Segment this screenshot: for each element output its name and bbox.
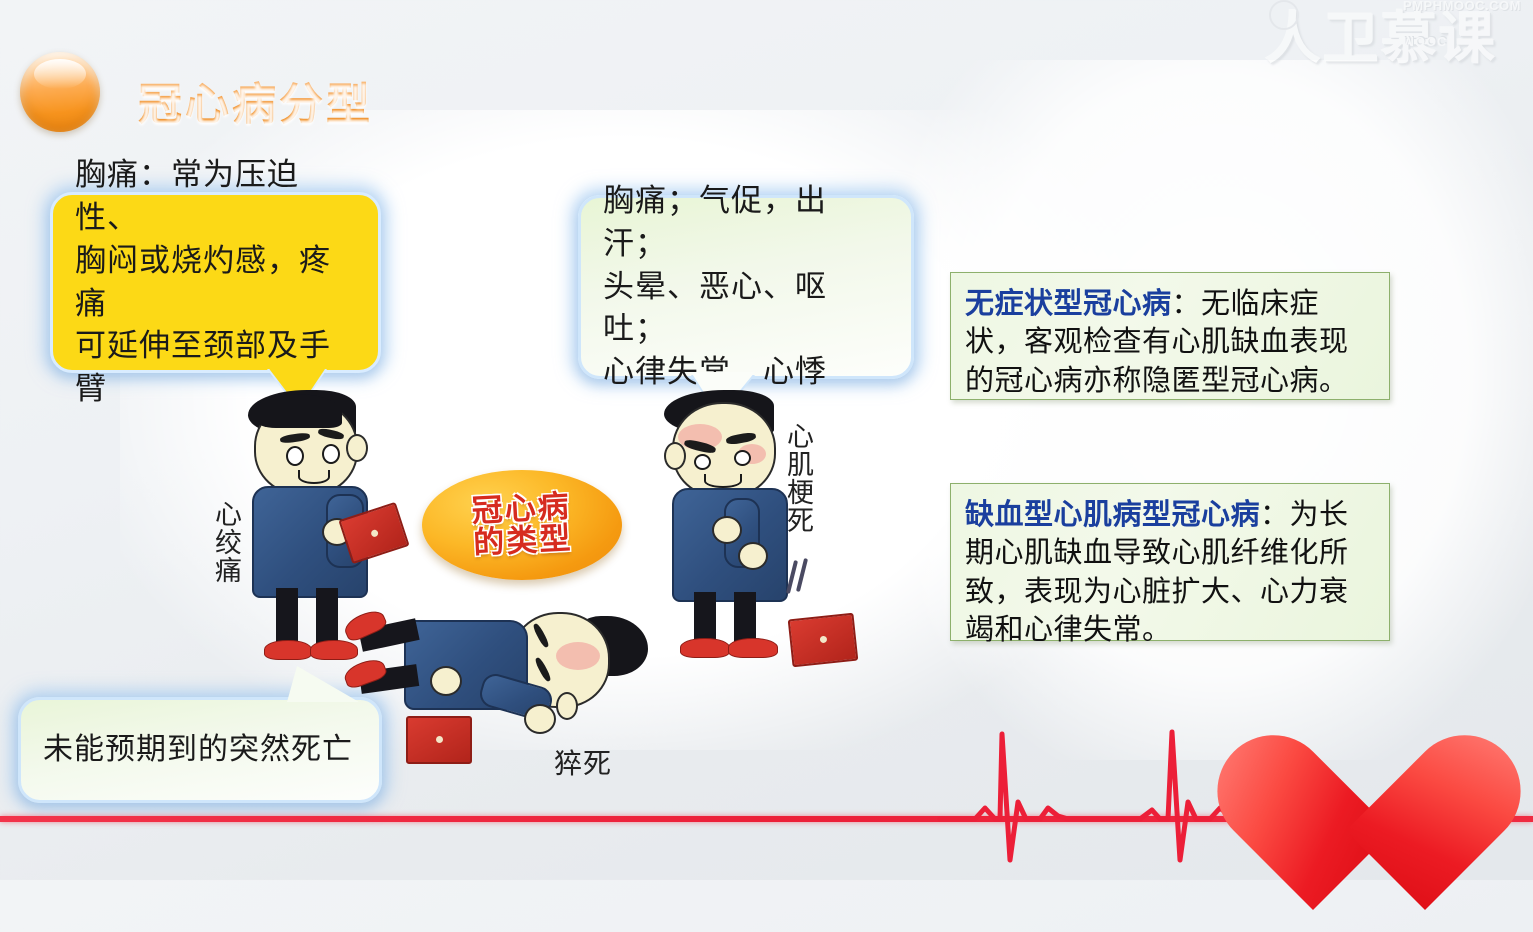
slide-canvas: 人卫慕课 PMPHMOOC.COM MOOC 冠心病分型 胸痛：常为压迫性、 胸… (0, 0, 1533, 880)
bubble-line: 头晕、恶心、呕吐； (603, 266, 889, 352)
infobox-term: 无症状型冠心病 (965, 288, 1172, 320)
page-title: 冠心病分型 (138, 68, 373, 132)
figure-myocardial-infarction (650, 390, 840, 660)
speech-bubble-mi-text: 胸痛；气促，出汗； 头晕、恶心、呕吐； 心律失常、心悸 (581, 198, 911, 376)
shoe (264, 640, 312, 660)
infobox-ischemic-cardiomyopathy: 缺血型心肌病型冠心病：为长期心肌缺血导致心肌纤维化所致，表现为心脏扩大、心力衰竭… (950, 483, 1390, 641)
eye (322, 444, 340, 464)
blush (556, 642, 600, 670)
watermark-circle-icon (1269, 0, 1299, 30)
background-glow-right (900, 60, 1533, 760)
hand (712, 516, 742, 544)
infobox-term: 缺血型心肌病型冠心病 (965, 499, 1260, 531)
hair-fringe (256, 394, 342, 428)
shoe (310, 640, 358, 660)
shoe (728, 638, 778, 658)
center-badge-line2: 的类型 (473, 522, 574, 559)
title-bullet-icon (20, 52, 100, 132)
mouth (704, 474, 742, 488)
eye (286, 446, 304, 466)
ear (664, 442, 686, 470)
bubble-line: 胸痛：常为压迫性、 (75, 154, 356, 240)
speech-bubble-mi: 胸痛；气促，出汗； 头晕、恶心、呕吐； 心律失常、心悸 (578, 195, 914, 379)
infobox-separator: ： (1260, 499, 1290, 531)
ear (346, 434, 368, 462)
shoe (680, 638, 730, 658)
infobox-separator: ： (1172, 288, 1202, 320)
speech-bubble-angina-text: 胸痛：常为压迫性、 胸闷或烧灼感，疼痛 可延伸至颈部及手臂 (53, 195, 378, 370)
leg (316, 588, 338, 646)
leg (734, 592, 756, 644)
mouth (298, 470, 330, 484)
infobox-asymptomatic: 无症状型冠心病：无临床症状，客观检查有心肌缺血表现的冠心病亦称隐匿型冠心病。 (950, 272, 1390, 400)
watermark-logo: 人卫慕课 PMPHMOOC.COM MOOC (1255, 0, 1525, 60)
eye (694, 454, 711, 470)
center-badge-text: 冠心病 的类型 (419, 465, 624, 585)
center-badge: 冠心病 的类型 (422, 470, 622, 580)
ecg-decoration (0, 690, 1533, 880)
motion-line (796, 558, 808, 592)
briefcase (788, 613, 859, 668)
leg (694, 592, 716, 644)
heart-icon (1303, 742, 1515, 932)
eye (734, 450, 751, 466)
leg (276, 588, 298, 646)
hand (738, 542, 768, 570)
speech-bubble-angina: 胸痛：常为压迫性、 胸闷或烧灼感，疼痛 可延伸至颈部及手臂 (50, 192, 381, 373)
bubble-line: 胸闷或烧灼感，疼痛 (75, 240, 356, 326)
watermark-sub: MOOC (1403, 34, 1447, 49)
watermark-url: PMPHMOOC.COM (1403, 0, 1521, 13)
bubble-line: 胸痛；气促，出汗； (603, 180, 889, 266)
